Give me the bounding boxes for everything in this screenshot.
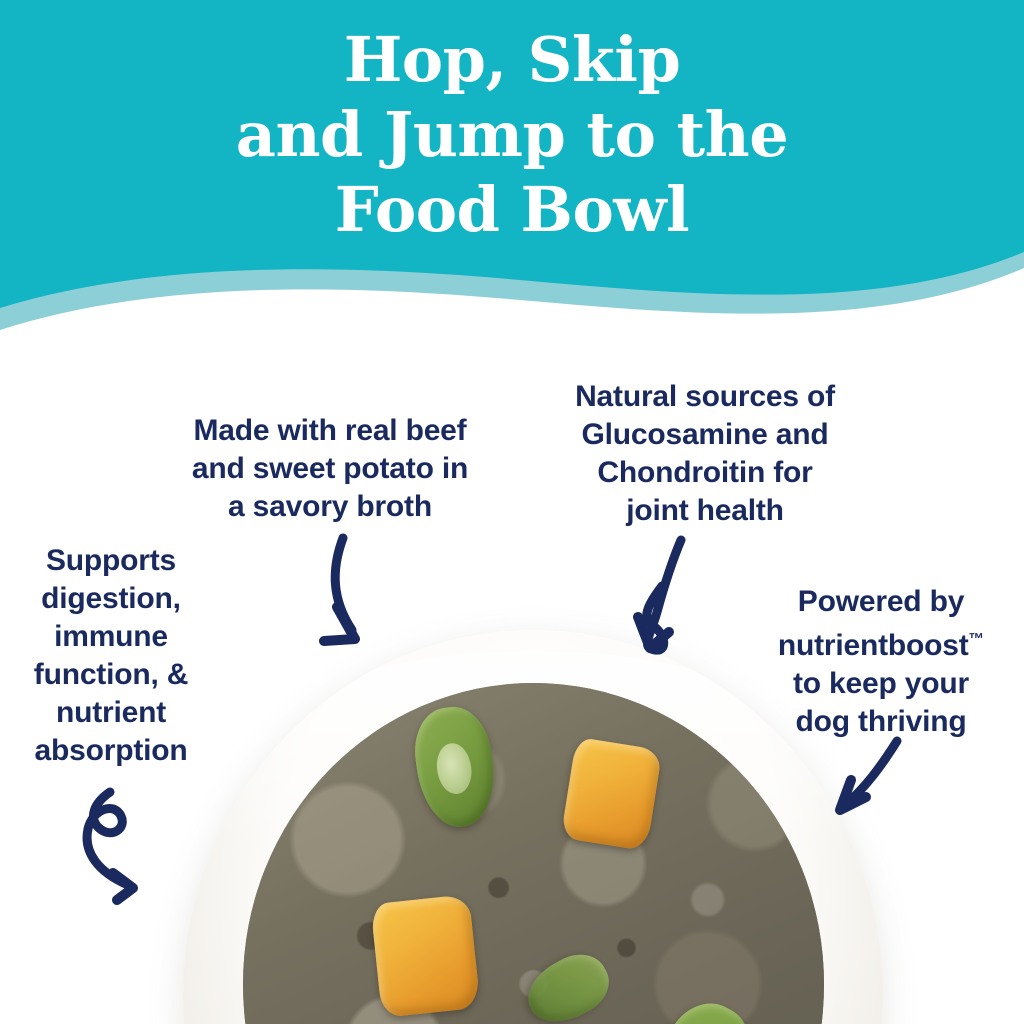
- green-bean-center: [433, 741, 474, 796]
- callout-text-digestion: Supports digestion, immune function, & n…: [0, 542, 222, 770]
- callout-text-joint-health: Natural sources of Glucosamine and Chond…: [520, 378, 890, 530]
- infographic-page: Hop, Skip and Jump to the Food Bowl: [0, 0, 1024, 1024]
- bowl-interior: [243, 683, 824, 1024]
- sweet-potato-cube: [560, 737, 662, 852]
- callout-boost-line1: Powered by nutrientboost: [778, 585, 969, 662]
- callout-boost-line2: to keep your dog thriving: [793, 667, 969, 738]
- stew-base: [243, 683, 824, 1024]
- callout-text-beef: Made with real beef and sweet potato in …: [140, 412, 520, 526]
- header-band: Hop, Skip and Jump to the Food Bowl: [0, 0, 1024, 340]
- page-title: Hop, Skip and Jump to the Food Bowl: [0, 22, 1024, 247]
- callout-text-nutrientboost: Powered by nutrientboost™ to keep your d…: [740, 583, 1022, 741]
- trademark-symbol: ™: [969, 631, 985, 648]
- sweet-potato-cube: [370, 894, 480, 1018]
